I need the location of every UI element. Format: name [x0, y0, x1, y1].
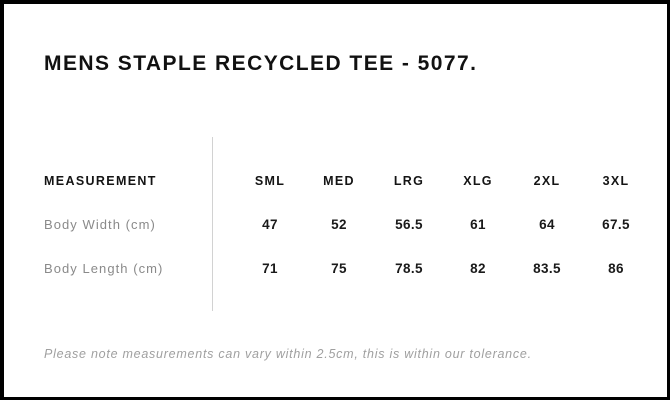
cell-body-width-med: 52 — [304, 214, 374, 236]
cell-body-width-lrg: 56.5 — [374, 214, 444, 236]
column-header-xlg: XLG — [443, 170, 513, 192]
size-chart-sheet: MENS STAPLE RECYCLED TEE - 5077. MEASURE… — [4, 4, 667, 397]
column-header-3xl: 3XL — [581, 170, 651, 192]
table-row: Body Length (cm) 71 75 78.5 82 83.5 86 — [4, 258, 667, 280]
cell-body-length-med: 75 — [304, 258, 374, 280]
column-header-lrg: LRG — [374, 170, 444, 192]
cell-body-width-3xl: 67.5 — [581, 214, 651, 236]
cell-body-width-sml: 47 — [235, 214, 305, 236]
row-label-body-width: Body Width (cm) — [44, 214, 156, 236]
cell-body-length-sml: 71 — [235, 258, 305, 280]
table-row: Body Width (cm) 47 52 56.5 61 64 67.5 — [4, 214, 667, 236]
cell-body-length-2xl: 83.5 — [512, 258, 582, 280]
column-header-measurement: MEASUREMENT — [44, 170, 157, 192]
cell-body-width-xlg: 61 — [443, 214, 513, 236]
table-header-row: MEASUREMENT SML MED LRG XLG 2XL 3XL — [4, 170, 667, 192]
cell-body-length-3xl: 86 — [581, 258, 651, 280]
tolerance-note: Please note measurements can vary within… — [44, 344, 532, 364]
size-chart-table: MEASUREMENT SML MED LRG XLG 2XL 3XL Body… — [4, 4, 667, 397]
cell-body-length-xlg: 82 — [443, 258, 513, 280]
row-label-body-length: Body Length (cm) — [44, 258, 163, 280]
column-header-sml: SML — [235, 170, 305, 192]
size-chart-page: MENS STAPLE RECYCLED TEE - 5077. MEASURE… — [0, 0, 670, 400]
cell-body-length-lrg: 78.5 — [374, 258, 444, 280]
column-header-2xl: 2XL — [512, 170, 582, 192]
column-header-med: MED — [304, 170, 374, 192]
cell-body-width-2xl: 64 — [512, 214, 582, 236]
